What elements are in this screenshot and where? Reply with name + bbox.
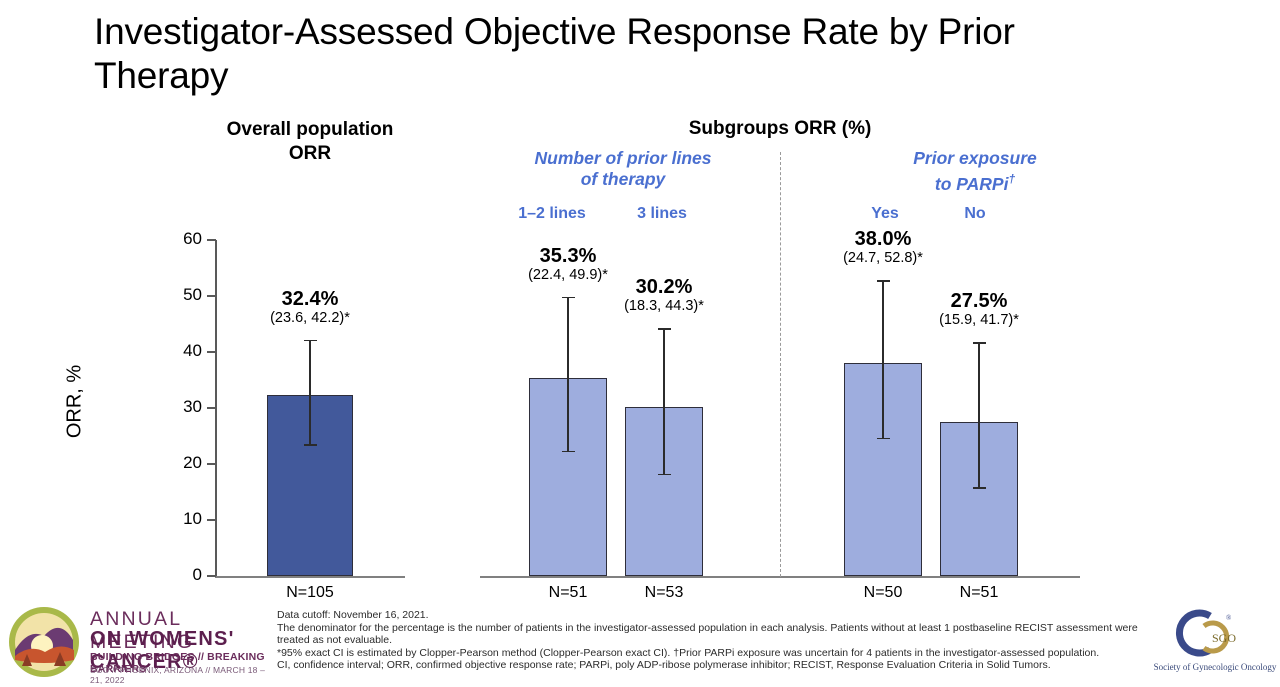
y-tick-label: 10: [160, 509, 202, 529]
meeting-logo-line4: SGO // PHOENIX, ARIZONA // MARCH 18 – 21…: [90, 665, 274, 685]
bar-ci-label: (23.6, 42.2)*: [235, 310, 385, 326]
footnote-line: *95% exact CI is estimated by Clopper-Pe…: [277, 647, 1167, 660]
error-bar: [978, 342, 980, 486]
footnotes: Data cutoff: November 16, 2021.The denom…: [277, 609, 1167, 672]
y-tick: [207, 575, 216, 577]
subgroup-divider: [780, 152, 781, 577]
error-bar-cap-lower: [562, 451, 575, 453]
subgroup-title-parpi-l1: Prior exposure: [860, 148, 1090, 169]
category-label-parpi-no: No: [935, 205, 1015, 223]
error-bar: [882, 280, 884, 437]
society-logo: SGO ® Society of Gynecologic Oncology: [1152, 606, 1278, 682]
bar-value-label: 32.4%: [235, 288, 385, 311]
error-bar: [309, 340, 311, 444]
subgroup-title-prior-lines-l1: Number of prior lines: [508, 148, 738, 169]
subgroups-header: Subgroups ORR (%): [620, 118, 940, 140]
x-axis-line-left: [215, 576, 405, 578]
y-tick: [207, 239, 216, 241]
subgroup-title-parpi: Prior exposure to PARPi†: [860, 148, 1090, 195]
category-label-parpi-yes: Yes: [835, 205, 935, 223]
y-tick: [207, 519, 216, 521]
footnote-line: Data cutoff: November 16, 2021.: [277, 609, 1167, 622]
dagger-footnote-marker: †: [1008, 172, 1015, 186]
annual-meeting-logo: ANNUAL MEETING ON WOMENS' CANCER® BUILDI…: [2, 604, 274, 682]
error-bar-cap-lower: [877, 438, 890, 440]
y-tick-label: 30: [160, 397, 202, 417]
error-bar-cap-upper: [304, 340, 317, 342]
society-logo-name: Society of Gynecologic Oncology: [1152, 662, 1278, 672]
error-bar-cap-upper: [973, 342, 986, 344]
overall-header-line1: Overall population: [200, 118, 420, 142]
bar-value-label: 27.5%: [904, 290, 1054, 313]
error-bar-cap-upper: [658, 328, 671, 330]
meeting-emblem-icon: [2, 604, 86, 682]
sgo-emblem-icon: SGO ®: [1152, 606, 1278, 662]
y-tick-label: 60: [160, 229, 202, 249]
y-tick-label: 20: [160, 453, 202, 473]
y-tick-label: 0: [160, 565, 202, 585]
category-label-1-2-lines: 1–2 lines: [497, 205, 607, 223]
bar-ci-label: (18.3, 44.3)*: [589, 298, 739, 314]
error-bar: [663, 328, 665, 474]
error-bar: [567, 297, 569, 451]
bar-value-label: 30.2%: [589, 276, 739, 299]
y-tick: [207, 295, 216, 297]
overall-header-line2: ORR: [200, 142, 420, 166]
y-tick: [207, 351, 216, 353]
bar-value-label: 38.0%: [808, 228, 958, 251]
footnote-line: The denominator for the percentage is th…: [277, 622, 1167, 647]
error-bar-cap-lower: [973, 487, 986, 489]
y-axis-title: ORR, %: [64, 322, 87, 482]
bar-n-label: N=51: [919, 584, 1039, 602]
error-bar-cap-lower: [304, 444, 317, 446]
svg-text:®: ®: [1226, 614, 1232, 622]
y-tick-label: 50: [160, 285, 202, 305]
subgroup-title-prior-lines: Number of prior lines of therapy: [508, 148, 738, 190]
error-bar-cap-lower: [658, 474, 671, 476]
error-bar-cap-upper: [562, 297, 575, 299]
bar-ci-label: (15.9, 41.7)*: [904, 312, 1054, 328]
bar-value-label: 35.3%: [493, 245, 643, 268]
bar-ci-label: (24.7, 52.8)*: [808, 250, 958, 266]
bar-n-label: N=105: [250, 584, 370, 602]
bar-n-label: N=53: [604, 584, 724, 602]
subgroup-title-prior-lines-l2: of therapy: [508, 169, 738, 190]
parpi-label: to PARPi: [935, 174, 1009, 194]
subgroup-title-parpi-l2: to PARPi†: [860, 169, 1090, 195]
category-label-3-lines: 3 lines: [617, 205, 707, 223]
y-tick: [207, 463, 216, 465]
y-tick-label: 40: [160, 341, 202, 361]
y-tick: [207, 407, 216, 409]
page-title: Investigator-Assessed Objective Response…: [94, 10, 1104, 98]
overall-population-header: Overall population ORR: [200, 118, 420, 166]
footnote-line: CI, confidence interval; ORR, confirmed …: [277, 659, 1167, 672]
sgo-mark-text: SGO: [1212, 631, 1236, 645]
error-bar-cap-upper: [877, 280, 890, 282]
